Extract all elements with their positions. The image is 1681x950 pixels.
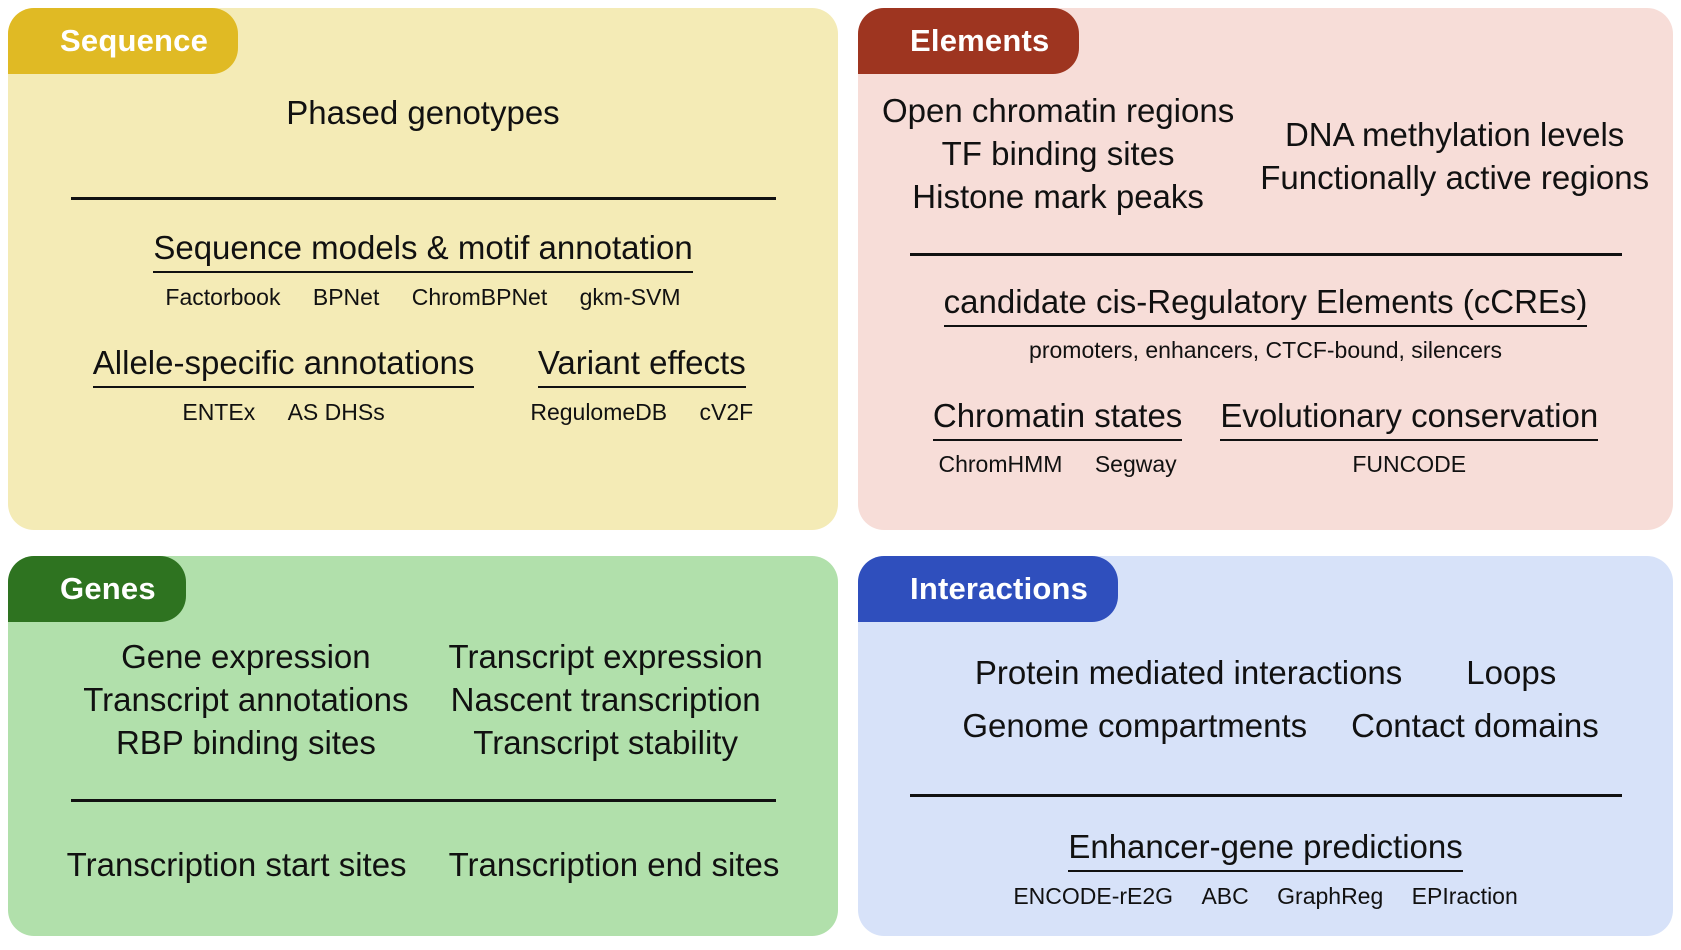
tool-chip: cV2F [700, 398, 754, 428]
sequence-section-variant-heading: Variant effects [538, 343, 746, 388]
sequence-section-variant-tools: RegulomeDB cV2F [530, 398, 753, 428]
elements-top-left-column: Open chromatin regions TF binding sites … [882, 90, 1234, 219]
panel-sequence-tab-label: Sequence [60, 23, 208, 59]
tool-chip: ChromHMM [939, 450, 1063, 480]
genes-bottom-item: Transcription end sites [449, 844, 780, 887]
interactions-section-predictions-heading: Enhancer-gene predictions [1068, 827, 1462, 872]
interactions-top-items: Protein mediated interactions Loops Geno… [858, 652, 1673, 748]
interactions-item: Genome compartments [962, 705, 1307, 748]
panel-grid: Sequence Phased genotypes Sequence model… [0, 0, 1681, 950]
tool-chip: ABC [1201, 882, 1248, 912]
genes-bottom-items: Transcription start sites Transcription … [8, 844, 838, 887]
elements-section-chromatin-heading: Chromatin states [933, 396, 1182, 441]
elements-top-right-column: DNA methylation levels Functionally acti… [1260, 90, 1649, 219]
elements-section-ccres-heading: candidate cis-Regulatory Elements (cCREs… [944, 282, 1588, 327]
interactions-row-2: Genome compartments Contact domains [858, 705, 1673, 748]
panel-genes-tab-label: Genes [60, 571, 156, 607]
elements-section-ccres-subtitle: promoters, enhancers, CTCF-bound, silenc… [858, 336, 1673, 366]
interactions-divider [910, 794, 1622, 797]
interactions-item: Protein mediated interactions [975, 652, 1402, 695]
sequence-section-models-tools: Factorbook BPNet ChromBPNet gkm-SVM [8, 283, 838, 313]
panel-elements: Elements Open chromatin regions TF bindi… [858, 8, 1673, 530]
panel-elements-tab[interactable]: Elements [858, 8, 1079, 74]
elements-section-ccres: candidate cis-Regulatory Elements (cCREs… [858, 282, 1673, 366]
elements-section-columns: Chromatin states ChromHMM Segway Evoluti… [858, 396, 1673, 480]
elements-top-item: Functionally active regions [1260, 157, 1649, 200]
genes-item: Transcript annotations [83, 679, 408, 722]
sequence-section-allele-tools: ENTEx AS DHSs [93, 398, 475, 428]
elements-top-item: Histone mark peaks [882, 176, 1234, 219]
panel-sequence-tab[interactable]: Sequence [8, 8, 238, 74]
tool-chip: Factorbook [165, 283, 280, 313]
elements-section-chromatin: Chromatin states ChromHMM Segway [933, 396, 1182, 480]
genes-top-items: Gene expression Transcript annotations R… [8, 636, 838, 765]
panel-sequence: Sequence Phased genotypes Sequence model… [8, 8, 838, 530]
interactions-section-predictions: Enhancer-gene predictions ENCODE-rE2G AB… [858, 827, 1673, 912]
tool-chip: RegulomeDB [530, 398, 667, 428]
elements-section-conservation-heading: Evolutionary conservation [1220, 396, 1598, 441]
panel-genes: Genes Gene expression Transcript annotat… [8, 556, 838, 936]
panel-sequence-content: Phased genotypes Sequence models & motif… [8, 8, 838, 530]
genes-item: Transcript expression [449, 636, 763, 679]
tool-chip: ChromBPNet [412, 283, 547, 313]
interactions-row-1: Protein mediated interactions Loops [858, 652, 1673, 695]
genes-right-column: Transcript expression Nascent transcript… [449, 636, 763, 765]
elements-section-conservation-tools: FUNCODE [1220, 450, 1598, 480]
elements-section-chromatin-tools: ChromHMM Segway [933, 450, 1182, 480]
interactions-item: Loops [1466, 652, 1556, 695]
panel-elements-tab-label: Elements [910, 23, 1049, 59]
elements-divider [910, 253, 1622, 256]
panel-genes-tab[interactable]: Genes [8, 556, 186, 622]
sequence-section-models-heading: Sequence models & motif annotation [153, 228, 692, 273]
elements-top-item: DNA methylation levels [1260, 114, 1649, 157]
sequence-section-allele-heading: Allele-specific annotations [93, 343, 475, 388]
genes-item: RBP binding sites [83, 722, 408, 765]
panel-interactions-tab-label: Interactions [910, 571, 1088, 607]
interactions-item: Contact domains [1351, 705, 1599, 748]
elements-section-conservation: Evolutionary conservation FUNCODE [1220, 396, 1598, 480]
panel-interactions: Interactions Protein mediated interactio… [858, 556, 1673, 936]
tool-chip: ENCODE-rE2G [1013, 882, 1173, 912]
tool-chip: BPNet [313, 283, 379, 313]
sequence-divider [71, 197, 776, 200]
sequence-section-variant: Variant effects RegulomeDB cV2F [530, 343, 753, 428]
elements-top-item: TF binding sites [882, 133, 1234, 176]
sequence-section-allele: Allele-specific annotations ENTEx AS DHS… [93, 343, 475, 428]
sequence-section-models: Sequence models & motif annotation Facto… [8, 228, 838, 313]
genes-left-column: Gene expression Transcript annotations R… [83, 636, 408, 765]
panel-interactions-tab[interactable]: Interactions [858, 556, 1118, 622]
elements-top-item: Open chromatin regions [882, 90, 1234, 133]
tool-chip: Segway [1095, 450, 1177, 480]
tool-chip: gkm-SVM [580, 283, 681, 313]
sequence-top-items: Phased genotypes [8, 74, 838, 135]
genes-bottom-item: Transcription start sites [67, 844, 407, 887]
tool-chip: ENTEx [182, 398, 255, 428]
genes-item: Transcript stability [449, 722, 763, 765]
tool-chip: GraphReg [1277, 882, 1383, 912]
tool-chip: EPIraction [1412, 882, 1518, 912]
elements-top-items: Open chromatin regions TF binding sites … [858, 74, 1673, 219]
tool-chip: AS DHSs [288, 398, 385, 428]
panel-elements-content: Open chromatin regions TF binding sites … [858, 8, 1673, 530]
genes-divider [71, 799, 776, 802]
interactions-section-predictions-tools: ENCODE-rE2G ABC GraphReg EPIraction [858, 882, 1673, 912]
sequence-top-item: Phased genotypes [8, 92, 838, 135]
sequence-section-columns: Allele-specific annotations ENTEx AS DHS… [8, 343, 838, 428]
tool-chip: FUNCODE [1352, 450, 1466, 480]
genes-item: Gene expression [83, 636, 408, 679]
genes-item: Nascent transcription [449, 679, 763, 722]
